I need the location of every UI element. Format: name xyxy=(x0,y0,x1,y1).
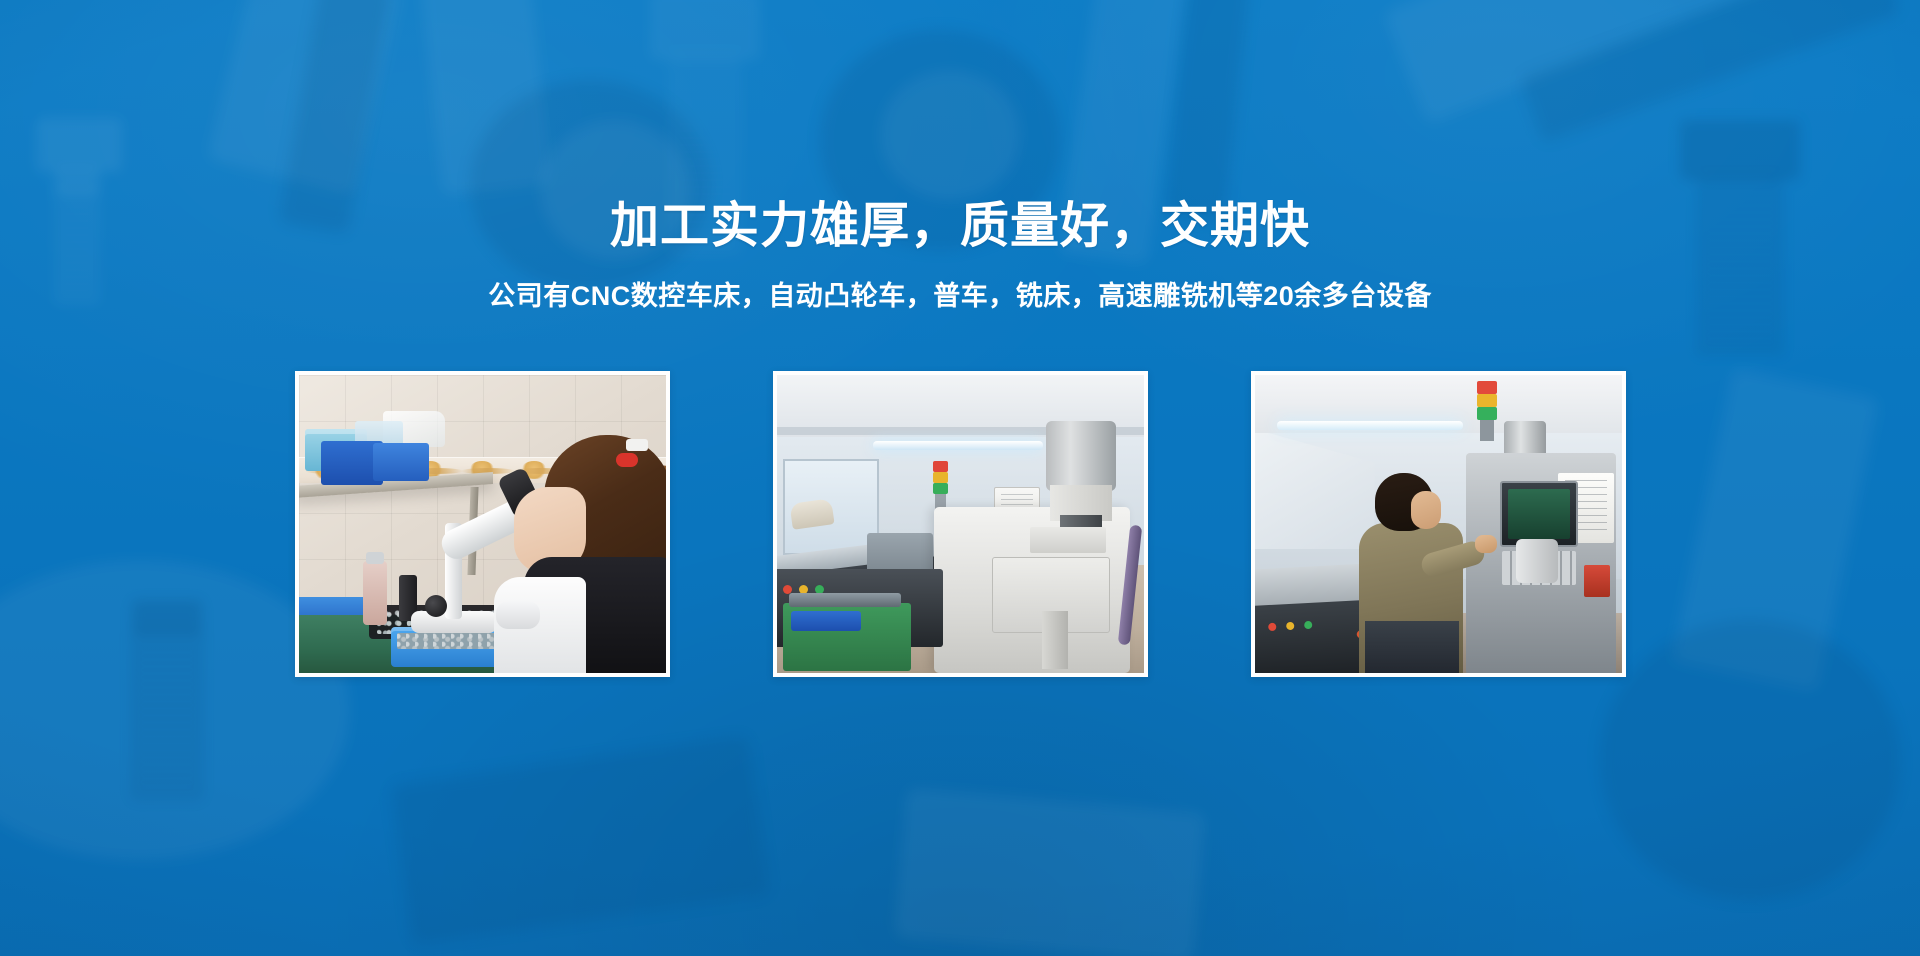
photo-quality-inspection[interactable] xyxy=(295,371,670,677)
banner-text-block: 加工实力雄厚，质量好，交期快 公司有CNC数控车床，自动凸轮车，普车，铣床，高速… xyxy=(0,196,1920,314)
photo-machine-operator-scene xyxy=(1255,375,1622,673)
banner-subheadline: 公司有CNC数控车床，自动凸轮车，普车，铣床，高速雕铣机等20余多台设备 xyxy=(0,278,1920,314)
photo-quality-inspection-scene xyxy=(299,375,666,673)
bar-watermark-bottom-center xyxy=(894,787,1206,956)
photo-machine-operator[interactable] xyxy=(1251,371,1626,677)
washer-inner-watermark xyxy=(880,70,1020,200)
photo-cnc-workshop-scene xyxy=(777,375,1144,673)
factory-capability-banner: 加工实力雄厚，质量好，交期快 公司有CNC数控车床，自动凸轮车，普车，铣床，高速… xyxy=(0,0,1920,956)
photo-cnc-workshop[interactable] xyxy=(773,371,1148,677)
factory-photo-strip xyxy=(0,355,1920,693)
banner-headline: 加工实力雄厚，质量好，交期快 xyxy=(0,196,1920,256)
